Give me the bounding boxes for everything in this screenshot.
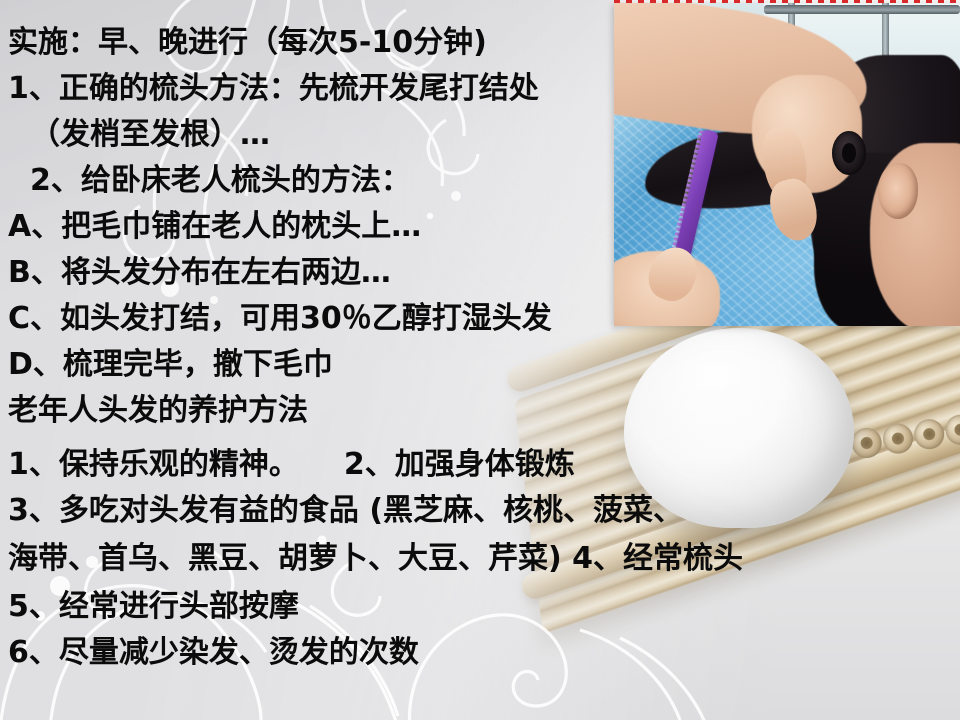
text-line-5: A、把毛巾铺在老人的枕头上…: [8, 210, 421, 244]
text-line-9: 老年人头发的养护方法: [8, 394, 308, 428]
text-line-14: 6、尽量减少染发、烫发的次数: [8, 636, 419, 670]
text-line-3: （发梢至发根）…: [30, 118, 270, 152]
text-line-8: D、梳理完毕，撤下毛巾: [8, 348, 333, 382]
text-line-10: 1、保持乐观的精神。 2、加强身体锻炼: [8, 448, 575, 482]
text-line-1: 实施：早、晚进行（每次5-10分钟): [8, 26, 487, 60]
text-line-7: C、如头发打结，可用30％乙醇打湿头发: [8, 302, 552, 336]
text-line-11: 3、多吃对头发有益的食品 (黑芝麻、核桃、菠菜、: [8, 494, 683, 528]
slide-canvas: 实施：早、晚进行（每次5-10分钟) 1、正确的梳头方法：先梳开发尾打结处 （发…: [0, 0, 960, 720]
text-line-4: 2、给卧床老人梳头的方法：: [30, 164, 411, 198]
text-line-13: 5、经常进行头部按摩: [8, 590, 299, 624]
slide-text-block: 实施：早、晚进行（每次5-10分钟) 1、正确的梳头方法：先梳开发尾打结处 （发…: [0, 0, 960, 720]
text-line-6: B、将头发分布在左右两边…: [8, 256, 391, 290]
text-line-12: 海带、首乌、黑豆、胡萝卜、大豆、芹菜) 4、经常梳头: [8, 542, 743, 576]
text-line-2: 1、正确的梳头方法：先梳开发尾打结处: [8, 72, 539, 106]
